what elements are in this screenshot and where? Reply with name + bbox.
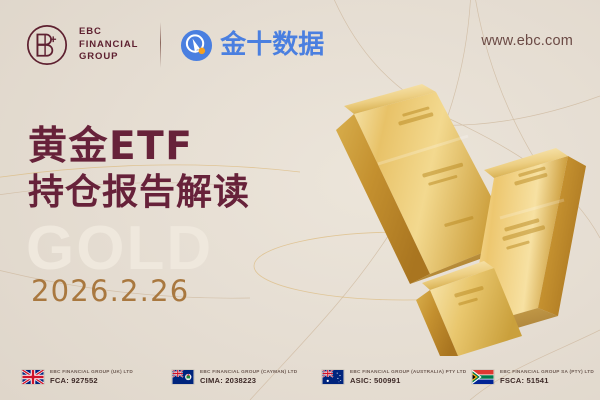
logo-divider	[160, 22, 161, 68]
regulator-license: ASIC: 500991	[350, 376, 466, 385]
headline-line-1: 黄金ETF	[28, 124, 250, 170]
ebc-wordmark-line-2: FINANCIAL	[79, 39, 138, 52]
regulator-license: FSCA: 51541	[500, 376, 594, 385]
publish-date: 2026.2.26	[31, 274, 189, 308]
regulator-strip: EBC FINANCIAL GROUP (UK) LTD FCA: 927552	[0, 354, 600, 400]
uk-flag-icon	[22, 370, 44, 384]
logo-bar: EBC FINANCIAL GROUP 金十数据	[24, 16, 324, 74]
website-url[interactable]: www.ebc.com	[481, 33, 573, 49]
promo-poster: EBC FINANCIAL GROUP 金十数据 www.ebc.com	[0, 0, 600, 400]
south-africa-flag-icon	[472, 370, 494, 384]
regulator-entity: EBC FINANCIAL GROUP (AUSTRALIA) PTY LTD	[350, 369, 466, 375]
regulator-badge-fca[interactable]: EBC FINANCIAL GROUP (UK) LTD FCA: 927552	[0, 369, 150, 386]
regulator-badge-cima[interactable]: EBC FINANCIAL GROUP (CAYMAN) LTD CIMA: 2…	[150, 369, 300, 386]
ebc-wordmark: EBC FINANCIAL GROUP	[79, 26, 138, 64]
ebc-monogram-icon	[24, 22, 70, 68]
regulator-entity: EBC FINANCIAL GROUP (UK) LTD	[50, 369, 133, 375]
gold-bars-illustration	[318, 78, 600, 356]
regulator-license: FCA: 927552	[50, 376, 133, 385]
regulator-entity: EBC FINANCIAL GROUP (CAYMAN) LTD	[200, 369, 297, 375]
partner-logo[interactable]: 金十数据	[180, 29, 324, 62]
australia-flag-icon	[322, 370, 344, 384]
headline-line-2: 持仓报告解读	[28, 170, 250, 216]
regulator-entity: EBC FINANCIAL GROUP SA (PTY) LTD	[500, 369, 594, 375]
regulator-license: CIMA: 2038223	[200, 376, 297, 385]
gold-watermark-text: GOLD	[26, 218, 213, 280]
ebc-logo[interactable]: EBC FINANCIAL GROUP	[24, 22, 138, 68]
ebc-wordmark-line-3: GROUP	[79, 51, 138, 64]
jin10-circle-pointer-icon	[180, 29, 213, 62]
ebc-wordmark-line-1: EBC	[79, 26, 138, 39]
regulator-badge-asic[interactable]: EBC FINANCIAL GROUP (AUSTRALIA) PTY LTD …	[300, 369, 450, 386]
headline-block: 黄金ETF 持仓报告解读	[28, 124, 250, 216]
cayman-islands-flag-icon	[172, 370, 194, 384]
partner-name: 金十数据	[220, 32, 324, 58]
regulator-badge-fsca[interactable]: EBC FINANCIAL GROUP SA (PTY) LTD FSCA: 5…	[450, 369, 600, 386]
